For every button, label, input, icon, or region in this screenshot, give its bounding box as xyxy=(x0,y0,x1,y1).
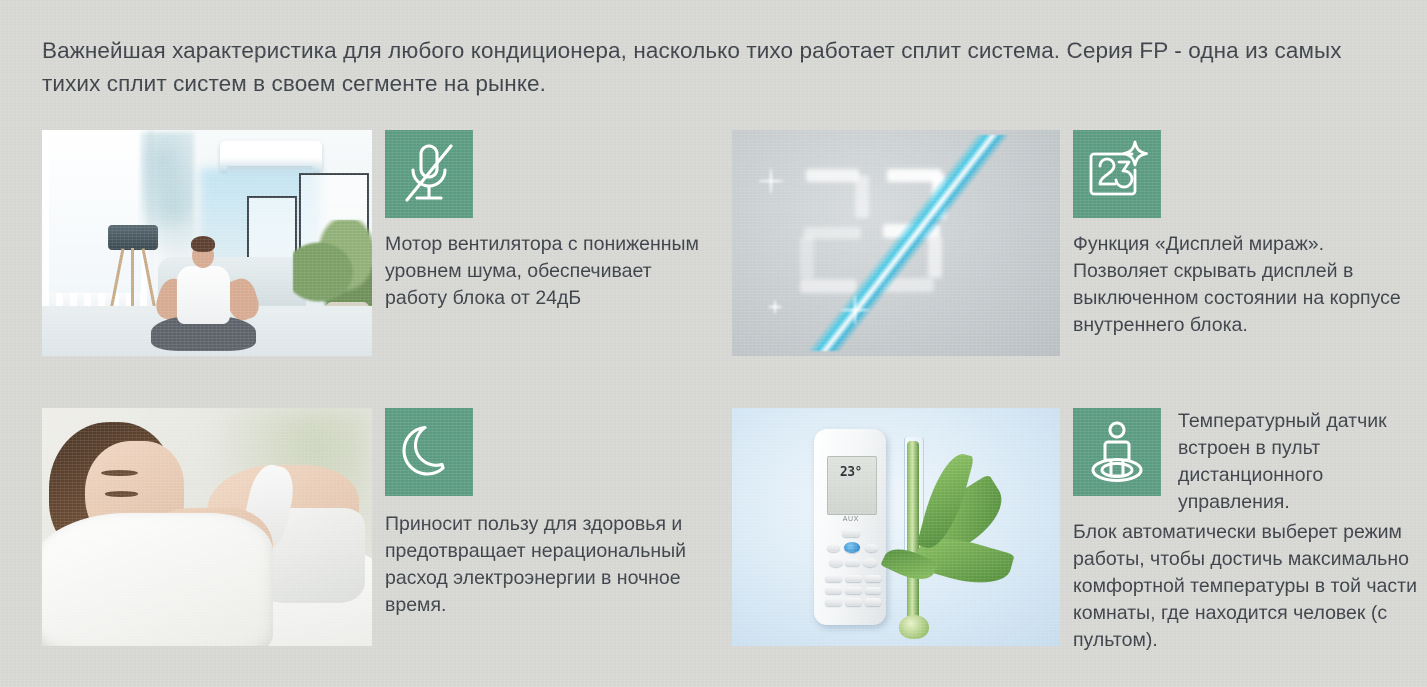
muted-microphone-icon xyxy=(385,130,473,218)
window xyxy=(49,130,141,293)
remote-button-r3c1 xyxy=(825,598,841,606)
remote-button-r1c3 xyxy=(865,575,881,583)
remote-button-r2c2 xyxy=(845,587,861,595)
plant-stem xyxy=(907,441,918,627)
lamp-leg-mid xyxy=(131,248,134,316)
remote-button-r1c1 xyxy=(825,575,841,583)
remote-button-r1c2 xyxy=(845,575,861,583)
feature-photo-sleep-mode xyxy=(42,408,372,646)
lamp-shade xyxy=(108,225,158,250)
remote-button-r2c1 xyxy=(825,587,841,595)
feature-caption-temperature-sensor-side: Температурный датчик встроен в пульт дис… xyxy=(1178,408,1410,516)
crescent-moon-icon xyxy=(385,408,473,496)
light-streak xyxy=(758,135,1060,352)
person-torso xyxy=(177,266,230,325)
feature-caption-quiet-fan-motor: Мотор вентилятора с пониженным уровнем ш… xyxy=(385,231,715,312)
remote-background xyxy=(732,408,1060,646)
feature-caption-sleep-mode: Приносит пользу для здоровья и предотвра… xyxy=(385,511,715,619)
feature-photo-quiet-fan-motor xyxy=(42,130,372,356)
remote-button-power xyxy=(842,529,860,537)
remote-temperature-value: 23° xyxy=(827,465,875,480)
remote-button-r3c2 xyxy=(845,598,861,606)
remote-button-r2c3 xyxy=(865,587,881,595)
feature-caption-temperature-sensor-main: Блок автоматически выберет режим работы,… xyxy=(1073,519,1418,654)
remote-brand-label: AUX xyxy=(827,516,875,523)
display-23-sparkle-icon xyxy=(1073,130,1161,218)
feature-caption-mirage-display: Функция «Дисплей мираж». Позволяет скрыв… xyxy=(1073,231,1409,339)
pillow xyxy=(42,513,273,646)
person-eyebrow xyxy=(101,470,137,476)
picture-frame-small xyxy=(247,196,297,263)
remote-button-right xyxy=(865,544,878,553)
remote-button-up xyxy=(829,558,843,567)
remote-button-r3c3 xyxy=(865,598,881,606)
feature-photo-mirage-display xyxy=(732,130,1060,356)
page-title: Важнейшая характеристика для любого конд… xyxy=(42,34,1388,100)
feature-photo-temperature-sensor: 23° AUX xyxy=(732,408,1060,646)
plant-bulb xyxy=(899,615,929,639)
person-eye xyxy=(105,491,138,496)
person-on-sensor-icon xyxy=(1073,408,1161,496)
remote-button-mode xyxy=(845,559,860,566)
remote-button-down xyxy=(863,558,877,567)
person-hair xyxy=(191,236,216,252)
window-plant xyxy=(141,132,194,272)
